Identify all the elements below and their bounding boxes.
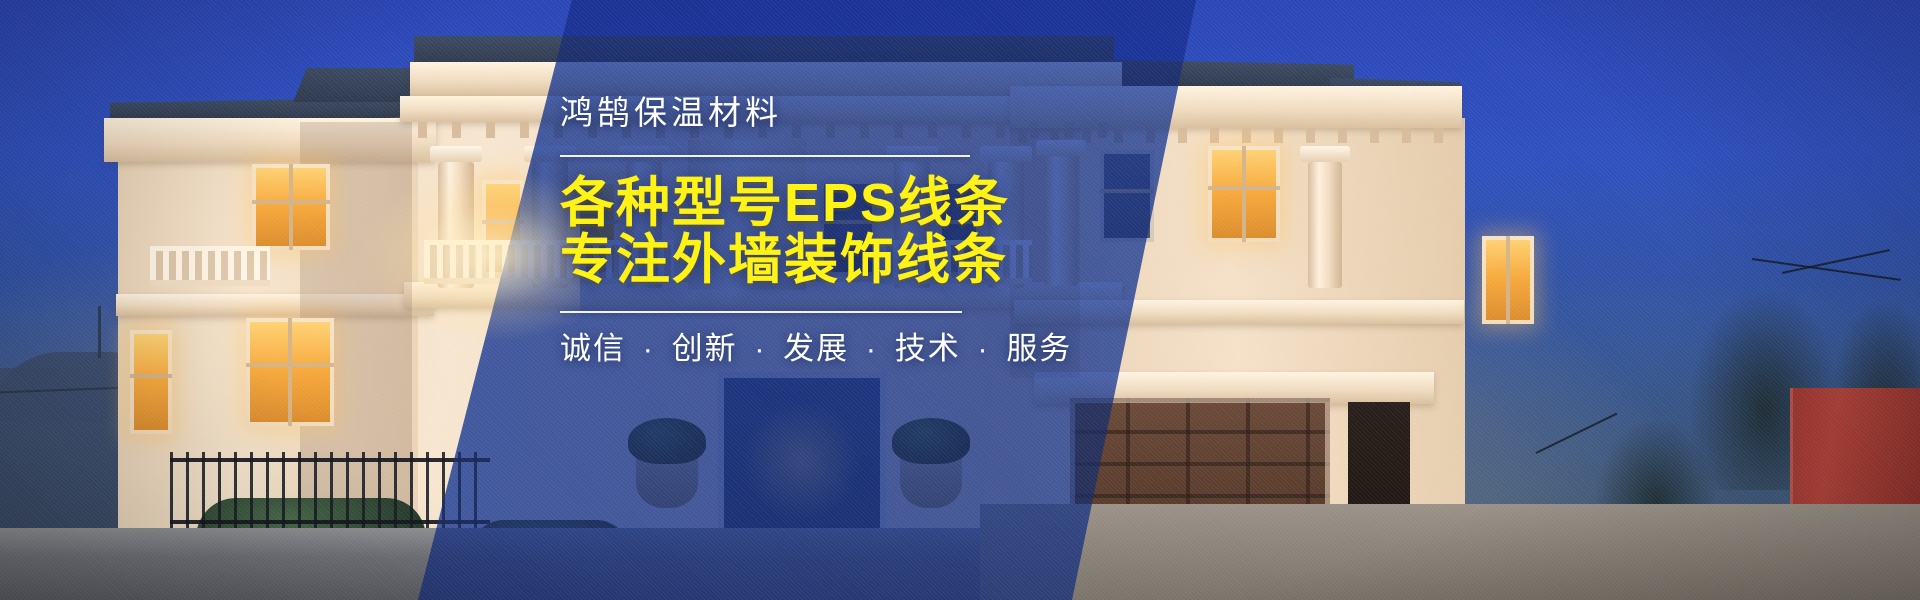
window-lit <box>246 318 334 426</box>
column <box>1308 162 1342 288</box>
brand-name: 鸿鹄保温材料 <box>560 96 1180 129</box>
tagline-item: 创新 <box>672 331 738 366</box>
tagline: 诚信 · 创新 · 发展 · 技术 · 服务 <box>560 333 1180 364</box>
banner-copy: 鸿鹄保温材料 各种型号EPS线条 专注外墙装饰线条 诚信 · 创新 · 发展 ·… <box>560 96 1180 364</box>
column-capital <box>430 146 482 162</box>
promo-banner: 鸿鹄保温材料 各种型号EPS线条 专注外墙装饰线条 诚信 · 创新 · 发展 ·… <box>0 0 1920 600</box>
tagline-item: 发展 <box>783 331 849 366</box>
window-lit <box>130 330 172 434</box>
tagline-separator: · <box>637 331 661 366</box>
headline: 各种型号EPS线条 专注外墙装饰线条 <box>560 175 1180 289</box>
tagline-item: 技术 <box>895 331 961 366</box>
headline-line-2: 专注外墙装饰线条 <box>560 232 1180 289</box>
divider-bottom <box>560 311 962 313</box>
column-capital <box>1300 146 1350 162</box>
balustrade <box>150 246 270 286</box>
driveway-right <box>980 504 1920 600</box>
tagline-separator: · <box>860 331 884 366</box>
fence-rail <box>170 458 490 462</box>
tagline-item: 诚信 <box>560 331 626 366</box>
window-lit <box>1208 146 1280 242</box>
window-lit <box>252 164 330 250</box>
headline-line-1: 各种型号EPS线条 <box>560 173 1010 233</box>
tagline-separator: · <box>748 331 772 366</box>
tagline-item: 服务 <box>1006 331 1072 366</box>
lens-flare <box>360 170 580 340</box>
divider-top <box>560 155 970 157</box>
tagline-separator: · <box>971 331 995 366</box>
window-lit <box>1482 236 1534 324</box>
